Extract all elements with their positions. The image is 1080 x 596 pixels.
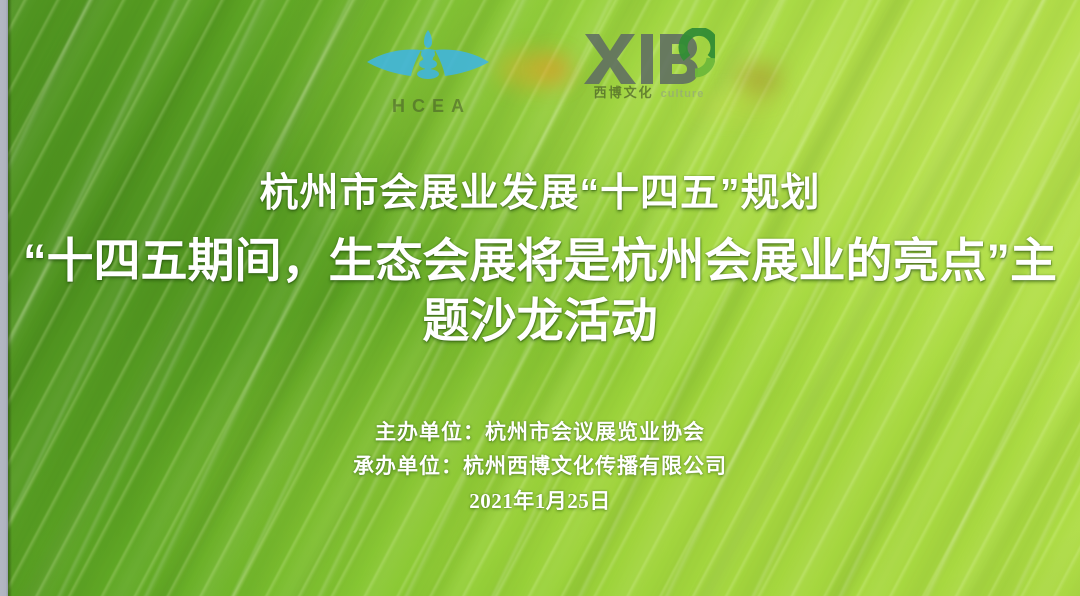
logo-hcea: HCEA: [365, 28, 491, 115]
organizer-line: 主办单位：杭州市会议展览业协会: [0, 416, 1080, 450]
title-line-1: 杭州市会展业发展“十四五”规划: [0, 170, 1080, 218]
poster-title-block: 杭州市会展业发展“十四五”规划 “十四五期间，生态会展将是杭州会展业的亮点”主 …: [0, 170, 1080, 350]
left-edge-strip: [0, 0, 8, 596]
title-line-2: “十四五期间，生态会展将是杭州会展业的亮点”主: [0, 231, 1080, 290]
title-line-3: 题沙龙活动: [0, 291, 1080, 350]
left-edge-shadow: [8, 0, 12, 596]
logo-row: HCEA 西博文化 culture: [0, 28, 1080, 115]
co-organizer-line: 承办单位：杭州西博文化传播有限公司: [0, 450, 1080, 484]
poster-slide: HCEA 西博文化 culture: [0, 0, 1080, 596]
hcea-wordmark: HCEA: [385, 97, 471, 115]
hcea-bird-icon: [365, 28, 491, 96]
xibo-wordmark-icon: [583, 28, 715, 84]
xibo-english-name: culture: [661, 89, 705, 100]
xibo-chinese-name: 西博文化: [594, 86, 654, 99]
event-date: 2021年1月25日: [0, 484, 1080, 518]
xibo-subtitle: 西博文化 culture: [594, 86, 705, 100]
poster-footer-block: 主办单位：杭州市会议展览业协会 承办单位：杭州西博文化传播有限公司 2021年1…: [0, 416, 1080, 519]
logo-xibo: 西博文化 culture: [583, 28, 715, 100]
